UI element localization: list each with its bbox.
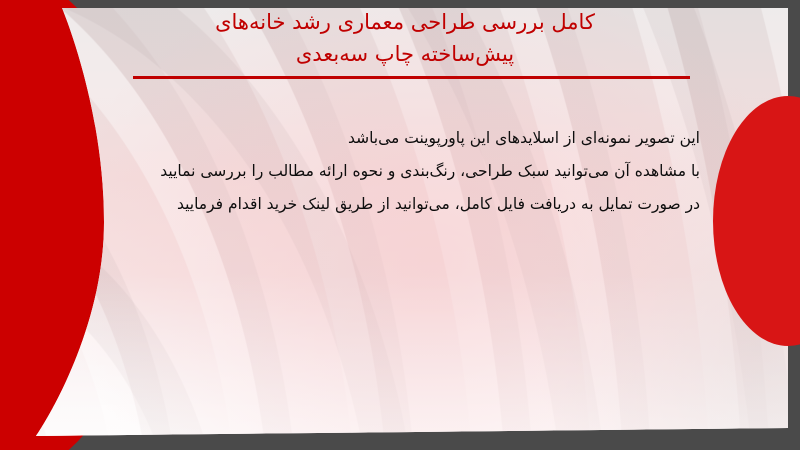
slide-text-layer: کامل بررسی طراحی معماری رشد خانه‌های پیش… [0, 0, 800, 450]
presentation-slide: کامل بررسی طراحی معماری رشد خانه‌های پیش… [0, 0, 800, 450]
slide-title-line-2: پیش‌ساخته چاپ سه‌بعدی [95, 38, 715, 70]
body-text-line-2: با مشاهده آن می‌توانید سبک طراحی، رنگ‌بن… [80, 155, 700, 188]
slide-title: کامل بررسی طراحی معماری رشد خانه‌های پیش… [95, 6, 715, 70]
body-text-line-3: در صورت تمایل به دریافت فایل کامل، می‌تو… [80, 188, 700, 221]
slide-title-line-1: کامل بررسی طراحی معماری رشد خانه‌های [95, 6, 715, 38]
body-text-line-1: این تصویر نمونه‌ای از اسلایدهای این پاور… [80, 122, 700, 155]
title-underline-rule [133, 76, 690, 79]
slide-body-text: این تصویر نمونه‌ای از اسلایدهای این پاور… [80, 122, 700, 221]
